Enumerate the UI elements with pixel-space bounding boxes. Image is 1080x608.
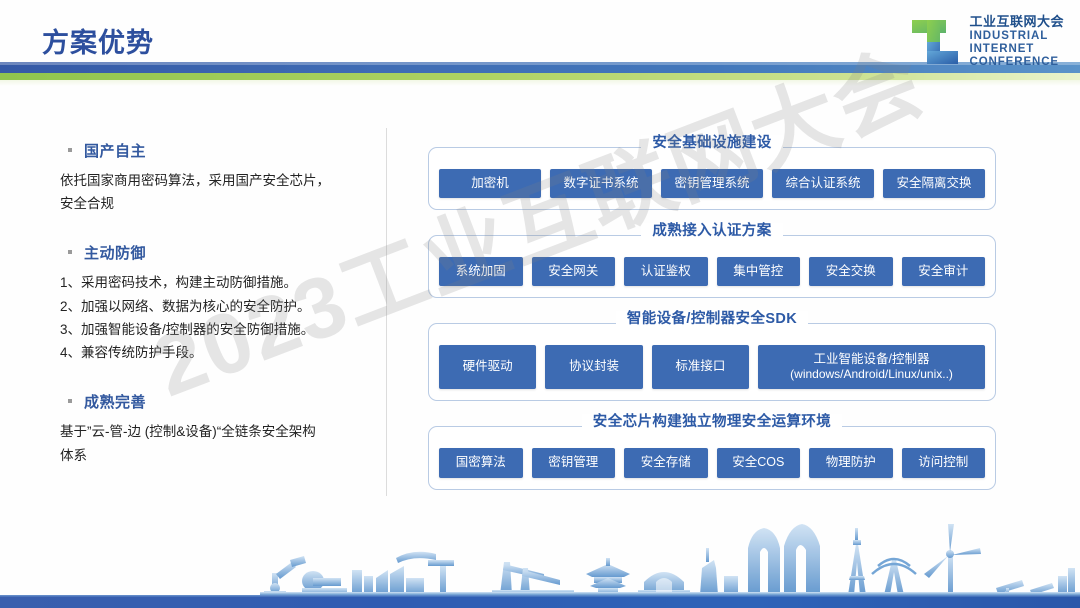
advantage-block: 主动防御 1、采用密码技术，构建主动防御措施。 2、加强以网络、数据为核心的安全…: [60, 242, 370, 364]
group-title-text: 成熟接入认证方案: [641, 223, 782, 239]
chip-item[interactable]: 访问控制: [902, 448, 986, 478]
advantage-line: 安全合规: [60, 192, 370, 215]
slide-header: 方案优势: [0, 0, 1080, 88]
advantage-heading: 成熟完善: [60, 391, 370, 412]
group-title-text: 安全基础设施建设: [641, 135, 782, 151]
group-secure-chip: 安全芯片构建独立物理安全运算环境 国密算法 密钥管理 安全存储 安全COS 物理…: [428, 415, 996, 489]
chip-row: 硬件驱动 协议封装 标准接口 工业智能设备/控制器 (windows/Andro…: [439, 345, 985, 390]
advantage-line: 依托国家商用密码算法，采用国产安全芯片，: [60, 169, 370, 192]
chip-item[interactable]: 密钥管理系统: [661, 169, 763, 199]
chip-row: 系统加固 安全网关 认证鉴权 集中管控 安全交换 安全审计: [439, 257, 985, 287]
group-device-sdk: 智能设备/控制器安全SDK 硬件驱动 协议封装 标准接口 工业智能设备/控制器 …: [428, 312, 996, 401]
chip-item[interactable]: 密钥管理: [532, 448, 616, 478]
chip-item[interactable]: 系统加固: [439, 257, 523, 287]
advantage-heading: 国产自主: [60, 140, 370, 161]
advantage-heading: 主动防御: [60, 242, 370, 263]
architecture-groups: 安全基础设施建设 加密机 数字证书系统 密钥管理系统 综合认证系统 安全隔离交换…: [428, 136, 996, 490]
bullet-square-icon: [68, 250, 72, 254]
advantages-list: 国产自主 依托国家商用密码算法，采用国产安全芯片， 安全合规 主动防御 1、采用…: [60, 140, 370, 467]
header-rule-fade: [0, 80, 1080, 86]
conference-logo-text: 工业互联网大会 INDUSTRIAL INTERNET CONFERENCE: [969, 15, 1064, 68]
group-title: 成熟接入认证方案: [428, 224, 996, 246]
chip-item[interactable]: 标准接口: [652, 345, 749, 390]
group-box: 硬件驱动 协议封装 标准接口 工业智能设备/控制器 (windows/Andro…: [428, 323, 996, 402]
chip-item[interactable]: 综合认证系统: [772, 169, 874, 199]
slide-root: 方案优势: [0, 0, 1080, 608]
advantage-body: 基于”云-管-边 (控制&设备)“全链条安全架构 体系: [60, 420, 370, 466]
conference-logo-mark-icon: [910, 14, 962, 70]
advantage-block: 国产自主 依托国家商用密码算法，采用国产安全芯片， 安全合规: [60, 140, 370, 215]
chip-item[interactable]: 国密算法: [439, 448, 523, 478]
advantage-line: 基于”云-管-边 (控制&设备)“全链条安全架构: [60, 420, 370, 443]
chip-item[interactable]: 数字证书系统: [550, 169, 652, 199]
group-title: 智能设备/控制器安全SDK: [428, 312, 996, 334]
advantage-title: 主动防御: [84, 242, 146, 263]
chip-item[interactable]: 安全COS: [717, 448, 801, 478]
chip-sublabel: (windows/Android/Linux/unix..): [790, 367, 953, 382]
chip-label: 工业智能设备/控制器: [814, 352, 930, 368]
advantage-line: 2、加强以网络、数据为核心的安全防护。: [60, 295, 370, 318]
advantage-body: 1、采用密码技术，构建主动防御措施。 2、加强以网络、数据为核心的安全防护。 3…: [60, 271, 370, 364]
chip-item[interactable]: 安全网关: [532, 257, 616, 287]
advantage-block: 成熟完善 基于”云-管-边 (控制&设备)“全链条安全架构 体系: [60, 391, 370, 466]
chip-item[interactable]: 安全交换: [809, 257, 893, 287]
conference-logo: 工业互联网大会 INDUSTRIAL INTERNET CONFERENCE: [910, 14, 1064, 70]
group-access-authentication: 成熟接入认证方案 系统加固 安全网关 认证鉴权 集中管控 安全交换 安全审计: [428, 224, 996, 298]
logo-title-cn: 工业互联网大会: [969, 15, 1064, 30]
industrial-skyline-silhouette-icon: [0, 518, 1080, 608]
chip-item[interactable]: 硬件驱动: [439, 345, 536, 390]
group-title-text: 智能设备/控制器安全SDK: [616, 311, 808, 327]
chip-item[interactable]: 加密机: [439, 169, 541, 199]
chip-item[interactable]: 认证鉴权: [624, 257, 708, 287]
advantage-title: 国产自主: [84, 140, 146, 161]
page-title: 方案优势: [42, 21, 154, 60]
chip-item[interactable]: 协议封装: [545, 345, 642, 390]
logo-title-en-3: CONFERENCE: [969, 56, 1064, 69]
advantage-title: 成熟完善: [84, 391, 146, 412]
group-security-infrastructure: 安全基础设施建设 加密机 数字证书系统 密钥管理系统 综合认证系统 安全隔离交换: [428, 136, 996, 210]
chip-item[interactable]: 安全存储: [624, 448, 708, 478]
column-divider: [386, 128, 387, 496]
group-title: 安全芯片构建独立物理安全运算环境: [428, 415, 996, 437]
chip-item[interactable]: 物理防护: [809, 448, 893, 478]
chip-item-wide[interactable]: 工业智能设备/控制器 (windows/Android/Linux/unix..…: [758, 345, 985, 390]
chip-row: 加密机 数字证书系统 密钥管理系统 综合认证系统 安全隔离交换: [439, 169, 985, 199]
chip-item[interactable]: 安全隔离交换: [883, 169, 985, 199]
advantage-line: 1、采用密码技术，构建主动防御措施。: [60, 271, 370, 294]
advantage-line: 4、兼容传统防护手段。: [60, 341, 370, 364]
chip-item[interactable]: 安全审计: [902, 257, 986, 287]
advantage-line: 3、加强智能设备/控制器的安全防御措施。: [60, 318, 370, 341]
logo-title-en-2: INTERNET: [969, 43, 1064, 56]
group-title: 安全基础设施建设: [428, 136, 996, 158]
bullet-square-icon: [68, 148, 72, 152]
advantage-line: 体系: [60, 444, 370, 467]
chip-row: 国密算法 密钥管理 安全存储 安全COS 物理防护 访问控制: [439, 448, 985, 478]
header-rule-green: [0, 73, 1080, 80]
advantage-body: 依托国家商用密码算法，采用国产安全芯片， 安全合规: [60, 169, 370, 215]
logo-title-en-1: INDUSTRIAL: [969, 30, 1064, 43]
chip-item[interactable]: 集中管控: [717, 257, 801, 287]
group-title-text: 安全芯片构建独立物理安全运算环境: [582, 414, 842, 430]
bullet-square-icon: [68, 399, 72, 403]
